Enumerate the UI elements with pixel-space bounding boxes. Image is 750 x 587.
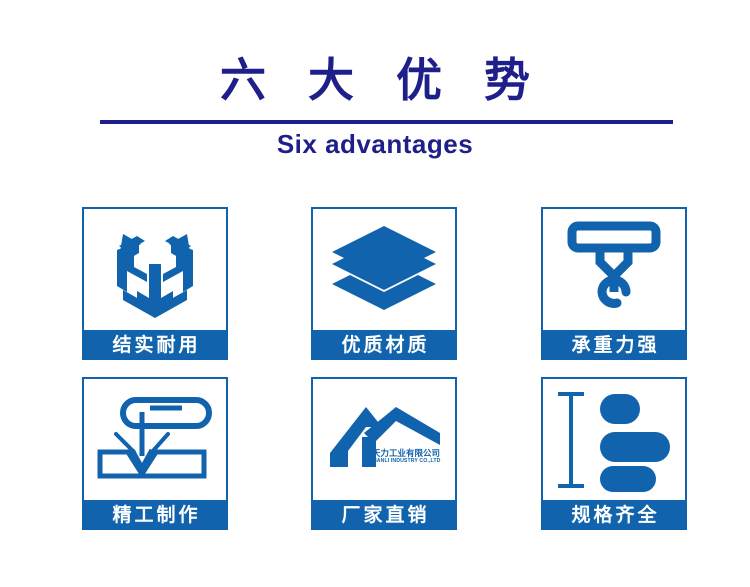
advantage-card-durable[interactable]: 结实耐用 xyxy=(82,207,228,360)
advantage-card-label: 优质材质 xyxy=(311,330,457,360)
press-brake-bending-icon xyxy=(84,379,226,500)
advantage-card-specifications[interactable]: 规格齐全 xyxy=(541,377,687,530)
advantages-grid: 结实耐用 优质材质 承 xyxy=(82,207,690,568)
advantage-card-label: 结实耐用 xyxy=(82,330,228,360)
advantage-card-material[interactable]: 优质材质 xyxy=(311,207,457,360)
stacked-layers-icon xyxy=(313,209,455,330)
advantage-card-label: 承重力强 xyxy=(541,330,687,360)
three-arrows-hexagon-icon xyxy=(84,209,226,330)
page-header: 六 大 优 势 Six advantages xyxy=(0,0,750,180)
page-title-english: Six advantages xyxy=(0,128,750,160)
crane-hook-icon xyxy=(543,209,685,330)
advantage-card-label: 厂家直销 xyxy=(311,500,457,530)
advantage-card-factory-direct[interactable]: 天力工业有限公司 TIANLI INDUSTRY CO.,LTD 厂家直销 xyxy=(311,377,457,530)
size-specification-bars-icon xyxy=(543,379,685,500)
factory-roof-logo-icon: 天力工业有限公司 TIANLI INDUSTRY CO.,LTD xyxy=(313,379,455,500)
advantage-card-craftsmanship[interactable]: 精工制作 xyxy=(82,377,228,530)
title-divider xyxy=(100,120,673,124)
advantage-card-label: 精工制作 xyxy=(82,500,228,530)
logo-company-name-en: TIANLI INDUSTRY CO.,LTD xyxy=(372,458,441,464)
advantage-card-label: 规格齐全 xyxy=(541,500,687,530)
advantage-card-load-bearing[interactable]: 承重力强 xyxy=(541,207,687,360)
page-title-chinese: 六 大 优 势 xyxy=(0,54,750,106)
